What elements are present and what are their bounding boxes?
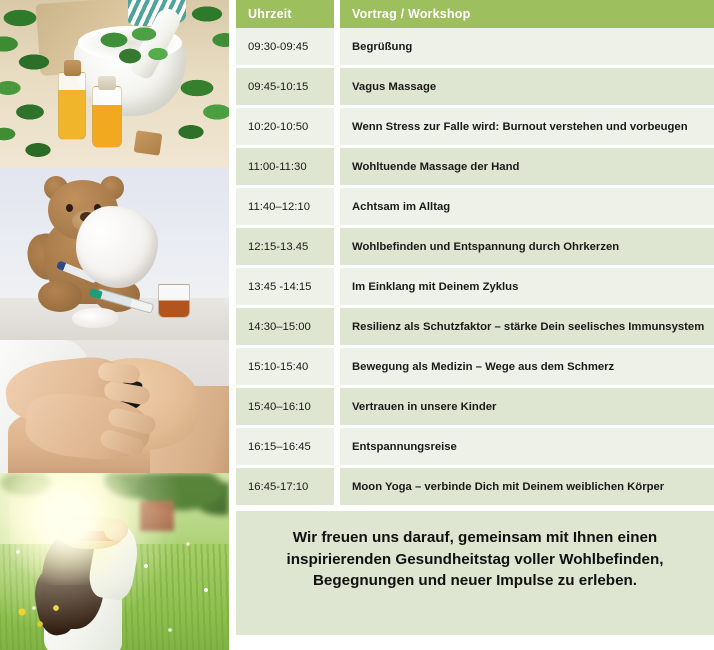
schedule-row-talk: Im Einklang mit Deinem Zyklus xyxy=(340,268,714,308)
schedule-row-time: 14:30–15:00 xyxy=(236,308,340,348)
schedule-row-time: 13:45 -14:15 xyxy=(236,268,340,308)
photo2-tissue-on-table xyxy=(72,308,118,328)
photo1-right-foliage xyxy=(151,0,229,168)
photo4-distant-barn xyxy=(140,501,174,531)
schedule-row-time: 10:20-10:50 xyxy=(236,108,340,148)
schedule-column: Uhrzeit Vortrag / Workshop 09:30-09:45Be… xyxy=(229,0,714,650)
schedule-row: 14:30–15:00Resilienz als Schutzfaktor – … xyxy=(236,308,714,348)
schedule-row-talk: Entspannungsreise xyxy=(340,428,714,468)
schedule-row-time: 16:15–16:45 xyxy=(236,428,340,468)
schedule-row: 12:15-13.45Wohlbefinden und Entspannung … xyxy=(236,228,714,268)
photo4-yellow-flowers xyxy=(10,602,70,642)
schedule-row-talk: Moon Yoga – verbinde Dich mit Deinem wei… xyxy=(340,468,714,508)
schedule-table: Uhrzeit Vortrag / Workshop 09:30-09:45Be… xyxy=(236,0,714,508)
column-header-talk: Vortrag / Workshop xyxy=(340,0,714,28)
photo1-cork-right xyxy=(98,76,116,90)
schedule-row-talk: Begrüßung xyxy=(340,28,714,68)
photo1-sugar-cube xyxy=(134,130,163,155)
schedule-row: 16:15–16:45Entspannungsreise xyxy=(236,428,714,468)
schedule-row: 11:00-11:30Wohltuende Massage der Hand xyxy=(236,148,714,188)
schedule-row-time: 15:10-15:40 xyxy=(236,348,340,388)
closing-note-text: Wir freuen uns darauf, gemeinsam mit Ihn… xyxy=(252,527,698,592)
photo1-oil-bottle-left xyxy=(58,72,86,140)
schedule-table-body: 09:30-09:45Begrüßung09:45-10:15Vagus Mas… xyxy=(236,28,714,508)
schedule-row-talk: Achtsam im Alltag xyxy=(340,188,714,228)
knee-therapy-hands-photo xyxy=(0,340,229,473)
schedule-row-time: 16:45-17:10 xyxy=(236,468,340,508)
schedule-header-row: Uhrzeit Vortrag / Workshop xyxy=(236,0,714,28)
photo2-bear-left-leg xyxy=(38,280,82,312)
schedule-row-talk: Wohlbefinden und Entspannung durch Ohrke… xyxy=(340,228,714,268)
schedule-row: 15:40–16:10Vertrauen in unsere Kinder xyxy=(236,388,714,428)
schedule-row: 11:40–12:10Achtsam im Alltag xyxy=(236,188,714,228)
photo2-tea-glass xyxy=(158,284,190,318)
schedule-row-talk: Wohltuende Massage der Hand xyxy=(340,148,714,188)
schedule-row: 15:10-15:40Bewegung als Medizin – Wege a… xyxy=(236,348,714,388)
schedule-row-talk: Resilienz als Schutzfaktor – stärke Dein… xyxy=(340,308,714,348)
schedule-row-time: 09:30-09:45 xyxy=(236,28,340,68)
schedule-row-time: 15:40–16:10 xyxy=(236,388,340,428)
schedule-table-head: Uhrzeit Vortrag / Workshop xyxy=(236,0,714,28)
schedule-row: 16:45-17:10Moon Yoga – verbinde Dich mit… xyxy=(236,468,714,508)
schedule-row-talk: Vertrauen in unsere Kinder xyxy=(340,388,714,428)
schedule-row: 10:20-10:50Wenn Stress zur Falle wird: B… xyxy=(236,108,714,148)
schedule-row-talk: Bewegung als Medizin – Wege aus dem Schm… xyxy=(340,348,714,388)
mortar-herbs-oils-photo xyxy=(0,0,229,168)
schedule-row-time: 09:45-10:15 xyxy=(236,68,340,108)
schedule-row-time: 11:00-11:30 xyxy=(236,148,340,188)
schedule-row: 09:30-09:45Begrüßung xyxy=(236,28,714,68)
photo2-bear-left-eye xyxy=(66,204,73,212)
photo1-oil-bottle-right xyxy=(92,86,122,148)
sick-teddy-bear-photo xyxy=(0,168,229,340)
image-gallery-column xyxy=(0,0,229,650)
flyer-page: Uhrzeit Vortrag / Workshop 09:30-09:45Be… xyxy=(0,0,714,650)
schedule-row-talk: Vagus Massage xyxy=(340,68,714,108)
schedule-row-time: 12:15-13.45 xyxy=(236,228,340,268)
column-header-time: Uhrzeit xyxy=(236,0,340,28)
photo4-sun-flare xyxy=(10,473,140,585)
schedule-row-talk: Wenn Stress zur Falle wird: Burnout vers… xyxy=(340,108,714,148)
schedule-row: 09:45-10:15Vagus Massage xyxy=(236,68,714,108)
woman-in-meadow-photo xyxy=(0,473,229,650)
photo1-cork-left xyxy=(64,60,81,76)
schedule-row-time: 11:40–12:10 xyxy=(236,188,340,228)
schedule-row: 13:45 -14:15Im Einklang mit Deinem Zyklu… xyxy=(236,268,714,308)
closing-note: Wir freuen uns darauf, gemeinsam mit Ihn… xyxy=(236,511,714,635)
